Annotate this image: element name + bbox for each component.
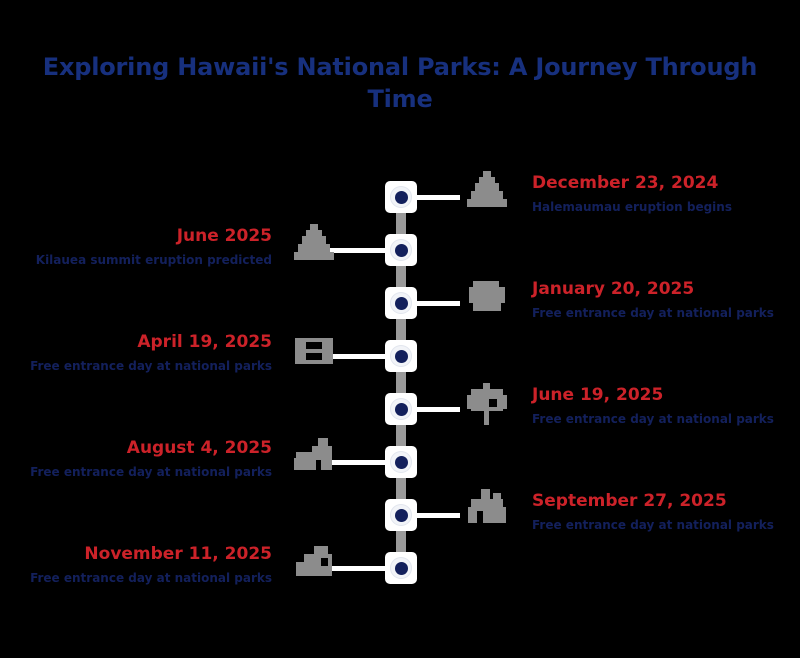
timeline-connector bbox=[414, 301, 460, 306]
entry-description: Free entrance day at national parks bbox=[532, 517, 780, 534]
entry-date: April 19, 2025 bbox=[20, 332, 272, 353]
node-ring bbox=[390, 504, 412, 526]
timeline-connector bbox=[414, 195, 460, 200]
node-ring bbox=[390, 345, 412, 367]
entry-description: Kilauea summit eruption predicted bbox=[20, 252, 272, 269]
timeline-node[interactable] bbox=[385, 552, 417, 584]
entry-description: Free entrance day at national parks bbox=[20, 358, 272, 375]
timeline-entry: April 19, 2025Free entrance day at natio… bbox=[20, 332, 272, 376]
entry-date: December 23, 2024 bbox=[532, 173, 780, 194]
timeline-node[interactable] bbox=[385, 287, 417, 319]
node-ring bbox=[390, 451, 412, 473]
timeline-node[interactable] bbox=[385, 181, 417, 213]
timeline-entry: September 27, 2025Free entrance day at n… bbox=[532, 491, 780, 535]
timeline-connector bbox=[414, 407, 460, 412]
timeline-entry: November 11, 2025Free entrance day at na… bbox=[20, 544, 272, 588]
node-ring bbox=[390, 398, 412, 420]
timeline-entry: June 19, 2025Free entrance day at nation… bbox=[532, 385, 780, 429]
ticket-icon bbox=[290, 328, 338, 376]
node-dot bbox=[395, 297, 408, 310]
entry-description: Free entrance day at national parks bbox=[20, 570, 272, 587]
page-title: Exploring Hawaii's National Parks: A Jou… bbox=[40, 52, 760, 115]
node-ring bbox=[390, 292, 412, 314]
timeline-entry: June 2025Kilauea summit eruption predict… bbox=[20, 226, 272, 270]
entry-description: Halemaumau eruption begins bbox=[532, 199, 780, 216]
volcano-icon bbox=[463, 169, 511, 217]
timeline-node[interactable] bbox=[385, 499, 417, 531]
entry-date: June 19, 2025 bbox=[532, 385, 780, 406]
hill-icon bbox=[290, 540, 338, 588]
node-ring bbox=[390, 239, 412, 261]
entry-date: June 2025 bbox=[20, 226, 272, 247]
node-ring bbox=[390, 557, 412, 579]
node-dot bbox=[395, 244, 408, 257]
node-dot bbox=[395, 191, 408, 204]
timeline-connector bbox=[414, 513, 460, 518]
entry-date: September 27, 2025 bbox=[532, 491, 780, 512]
timeline-node[interactable] bbox=[385, 234, 417, 266]
node-dot bbox=[395, 456, 408, 469]
timeline-node[interactable] bbox=[385, 393, 417, 425]
timeline-connector bbox=[330, 566, 388, 571]
node-dot bbox=[395, 562, 408, 575]
node-dot bbox=[395, 403, 408, 416]
timeline-entry: August 4, 2025Free entrance day at natio… bbox=[20, 438, 272, 482]
mountains-icon bbox=[290, 434, 338, 482]
node-ring bbox=[390, 186, 412, 208]
timeline-connector bbox=[330, 460, 388, 465]
timeline-connector bbox=[330, 248, 388, 253]
entry-description: Free entrance day at national parks bbox=[532, 305, 780, 322]
node-dot bbox=[395, 350, 408, 363]
entry-date: November 11, 2025 bbox=[20, 544, 272, 565]
timeline-connector bbox=[330, 354, 388, 359]
timeline-node[interactable] bbox=[385, 446, 417, 478]
tree-icon bbox=[463, 381, 511, 429]
volcano-icon bbox=[290, 222, 338, 270]
timeline-infographic: Exploring Hawaii's National Parks: A Jou… bbox=[0, 0, 800, 658]
entry-date: January 20, 2025 bbox=[532, 279, 780, 300]
entry-description: Free entrance day at national parks bbox=[532, 411, 780, 428]
entry-description: Free entrance day at national parks bbox=[20, 464, 272, 481]
lodge-icon bbox=[463, 487, 511, 535]
timeline-entry: January 20, 2025Free entrance day at nat… bbox=[532, 279, 780, 323]
entry-date: August 4, 2025 bbox=[20, 438, 272, 459]
node-dot bbox=[395, 509, 408, 522]
timeline-entry: December 23, 2024Halemaumau eruption beg… bbox=[532, 173, 780, 217]
timeline-node[interactable] bbox=[385, 340, 417, 372]
park-rock-icon bbox=[463, 275, 511, 323]
